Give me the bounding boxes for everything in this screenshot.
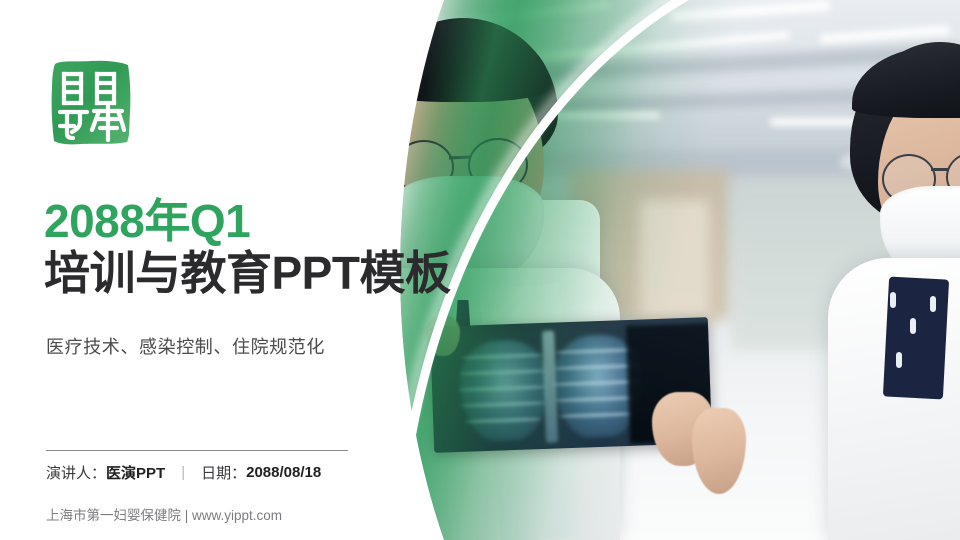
eyeglasses-bridge xyxy=(931,168,948,171)
presenter-value: 医演PPT xyxy=(106,462,165,483)
footer-credit: 上海市第一妇婴保健院 | www.yippt.com xyxy=(46,504,282,524)
date-value: 2088/08/18 xyxy=(246,464,321,481)
seal-stamp-logo xyxy=(47,56,135,148)
page-title: 2088年Q1 培训与教育PPT模板 xyxy=(44,198,450,297)
left-content-panel: 2088年Q1 培训与教育PPT模板 医疗技术、感染控制、住院规范化 演讲人： … xyxy=(0,0,520,540)
presentation-slide: 2088年Q1 培训与教育PPT模板 医疗技术、感染控制、住院规范化 演讲人： … xyxy=(0,0,960,540)
background-panel xyxy=(640,200,710,320)
ceiling-light xyxy=(670,0,830,21)
date-label: 日期： xyxy=(201,462,246,483)
blouse-pattern xyxy=(910,318,916,334)
title-line-year: 2088年Q1 xyxy=(44,198,450,245)
presenter-label: 演讲人： xyxy=(46,462,106,483)
subtitle: 医疗技术、感染控制、住院规范化 xyxy=(46,333,325,359)
blouse-pattern xyxy=(930,296,936,312)
divider-line xyxy=(46,450,348,451)
hand-left xyxy=(692,408,746,494)
meta-info: 演讲人： 医演PPT | 日期： 2088/08/18 xyxy=(46,462,321,483)
meta-separator: | xyxy=(181,464,185,481)
blouse-pattern xyxy=(896,352,902,368)
blouse-pattern xyxy=(890,292,896,308)
ceiling-light xyxy=(820,25,950,43)
title-line-main: 培训与教育PPT模板 xyxy=(44,250,450,297)
